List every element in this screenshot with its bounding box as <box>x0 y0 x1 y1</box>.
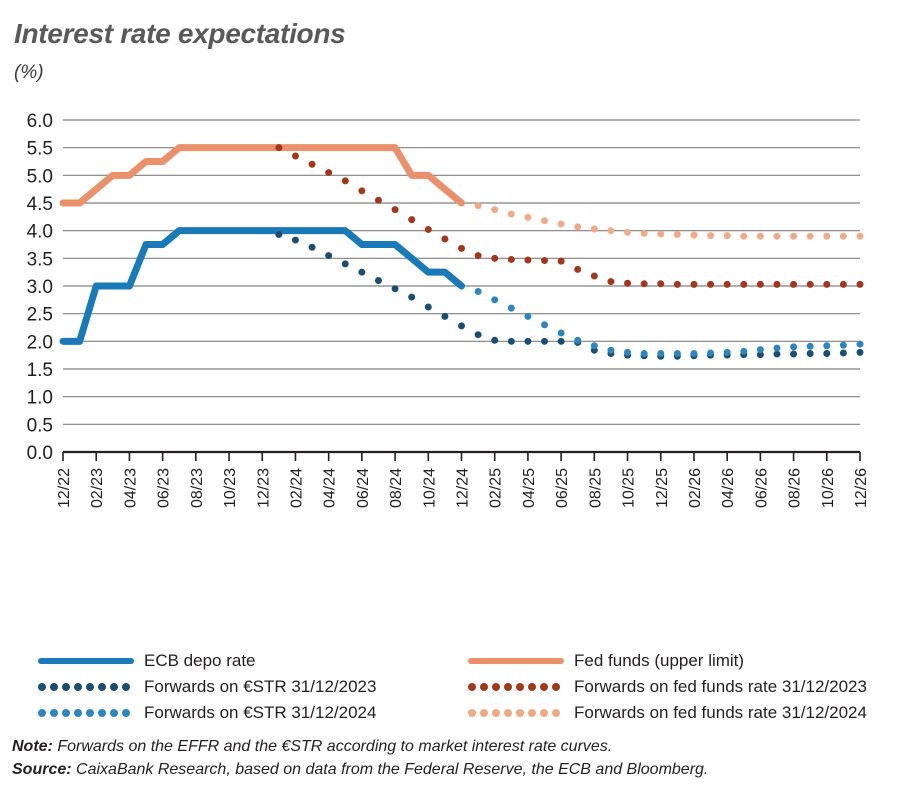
chart-legend: ECB depo rateForwards on €STR 31/12/2023… <box>0 648 900 728</box>
y-axis-tick-label: 0.0 <box>27 443 53 464</box>
x-axis-tick-label: 06/23 <box>156 468 173 508</box>
y-axis-tick-label: 0.5 <box>27 415 53 436</box>
page-title: Interest rate expectations <box>14 18 345 50</box>
y-axis-tick-label: 2.5 <box>27 305 53 326</box>
y-axis-tick-label: 5.0 <box>27 166 53 187</box>
x-axis-tick-label: 04/23 <box>122 468 139 508</box>
plot-area: 0.00.51.01.52.02.53.03.54.04.55.05.56.01… <box>0 105 900 570</box>
legend-label-ff2024: Forwards on fed funds rate 31/12/2024 <box>574 703 867 723</box>
legend-item-estr2023[interactable]: Forwards on €STR 31/12/2023 <box>38 674 376 700</box>
legend-item-fed[interactable]: Fed funds (upper limit) <box>468 648 867 674</box>
x-axis-tick-label: 08/26 <box>787 468 804 508</box>
x-axis-tick-label: 04/26 <box>720 468 737 508</box>
y-axis-tick-label: 4.5 <box>27 194 53 215</box>
y-axis-tick-label: 5.5 <box>27 139 53 160</box>
y-axis-tick-label: 6.0 <box>27 111 53 132</box>
legend-swatch-fed <box>468 652 564 670</box>
x-axis-tick-label: 10/23 <box>222 468 239 508</box>
x-axis-tick-label: 12/22 <box>56 468 73 508</box>
x-axis-tick-label: 10/24 <box>421 468 438 508</box>
x-axis-tick-label: 02/26 <box>687 468 704 508</box>
source-label: Source: <box>12 761 72 778</box>
y-axis-tick-label: 3.0 <box>27 277 53 298</box>
legend-label-estr2024: Forwards on €STR 31/12/2024 <box>144 703 376 723</box>
x-axis-tick-label: 04/25 <box>521 468 538 508</box>
chart-units-label: (%) <box>14 62 44 84</box>
x-axis-tick-label: 10/25 <box>621 468 638 508</box>
y-axis-tick-label: 1.0 <box>27 388 53 409</box>
x-axis-tick-label: 08/23 <box>189 468 206 508</box>
y-axis-tick-label: 2.0 <box>27 332 53 353</box>
x-axis-tick-label: 04/24 <box>322 468 339 508</box>
legend-swatch-ff2024 <box>468 704 564 722</box>
legend-swatch-ff2023 <box>468 678 564 696</box>
x-axis-tick-label: 12/23 <box>255 468 272 508</box>
x-axis-tick-label: 08/24 <box>388 468 405 508</box>
x-axis-tick-label: 06/25 <box>554 468 571 508</box>
series-ff2023 <box>275 144 863 288</box>
legend-item-ff2024[interactable]: Forwards on fed funds rate 31/12/2024 <box>468 700 867 726</box>
series-estr2024 <box>475 288 864 357</box>
x-axis-tick-label: 12/24 <box>455 468 472 508</box>
note-label: Note: <box>12 738 53 755</box>
line-chart: 0.00.51.01.52.02.53.03.54.04.55.05.56.01… <box>0 105 900 570</box>
legend-swatch-ecb <box>38 652 134 670</box>
series-ff2024 <box>475 202 864 239</box>
legend-label-fed: Fed funds (upper limit) <box>574 651 744 671</box>
legend-item-estr2024[interactable]: Forwards on €STR 31/12/2024 <box>38 700 376 726</box>
series-estr2023 <box>275 231 863 360</box>
x-axis-tick-label: 12/26 <box>853 468 870 508</box>
x-axis-tick-label: 10/26 <box>820 468 837 508</box>
note-line: Note: Forwards on the EFFR and the €STR … <box>12 735 892 758</box>
chart-page: Interest rate expectations (%) 0.00.51.0… <box>0 0 900 800</box>
y-axis-tick-label: 3.5 <box>27 249 53 270</box>
legend-swatch-estr2024 <box>38 704 134 722</box>
source-text: CaixaBank Research, based on data from t… <box>76 761 708 778</box>
legend-label-ff2023: Forwards on fed funds rate 31/12/2023 <box>574 677 867 697</box>
x-axis-tick-label: 02/24 <box>288 468 305 508</box>
y-axis-tick-label: 4.0 <box>27 222 53 243</box>
legend-column-right: Fed funds (upper limit)Forwards on fed f… <box>468 648 867 726</box>
legend-column-left: ECB depo rateForwards on €STR 31/12/2023… <box>38 648 376 726</box>
source-line: Source: CaixaBank Research, based on dat… <box>12 758 892 781</box>
footnotes: Note: Forwards on the EFFR and the €STR … <box>12 735 892 781</box>
legend-item-ecb[interactable]: ECB depo rate <box>38 648 376 674</box>
x-axis-tick-label: 02/25 <box>488 468 505 508</box>
x-axis-tick-label: 08/25 <box>587 468 604 508</box>
x-axis-tick-label: 06/26 <box>753 468 770 508</box>
x-axis-tick-label: 06/24 <box>355 468 372 508</box>
legend-item-ff2023[interactable]: Forwards on fed funds rate 31/12/2023 <box>468 674 867 700</box>
x-axis-tick-label: 02/23 <box>89 468 106 508</box>
y-axis-tick-label: 1.5 <box>27 360 53 381</box>
legend-label-estr2023: Forwards on €STR 31/12/2023 <box>144 677 376 697</box>
legend-label-ecb: ECB depo rate <box>144 651 256 671</box>
legend-swatch-estr2023 <box>38 678 134 696</box>
x-axis-tick-label: 12/25 <box>654 468 671 508</box>
note-text: Forwards on the EFFR and the €STR accord… <box>57 738 612 755</box>
